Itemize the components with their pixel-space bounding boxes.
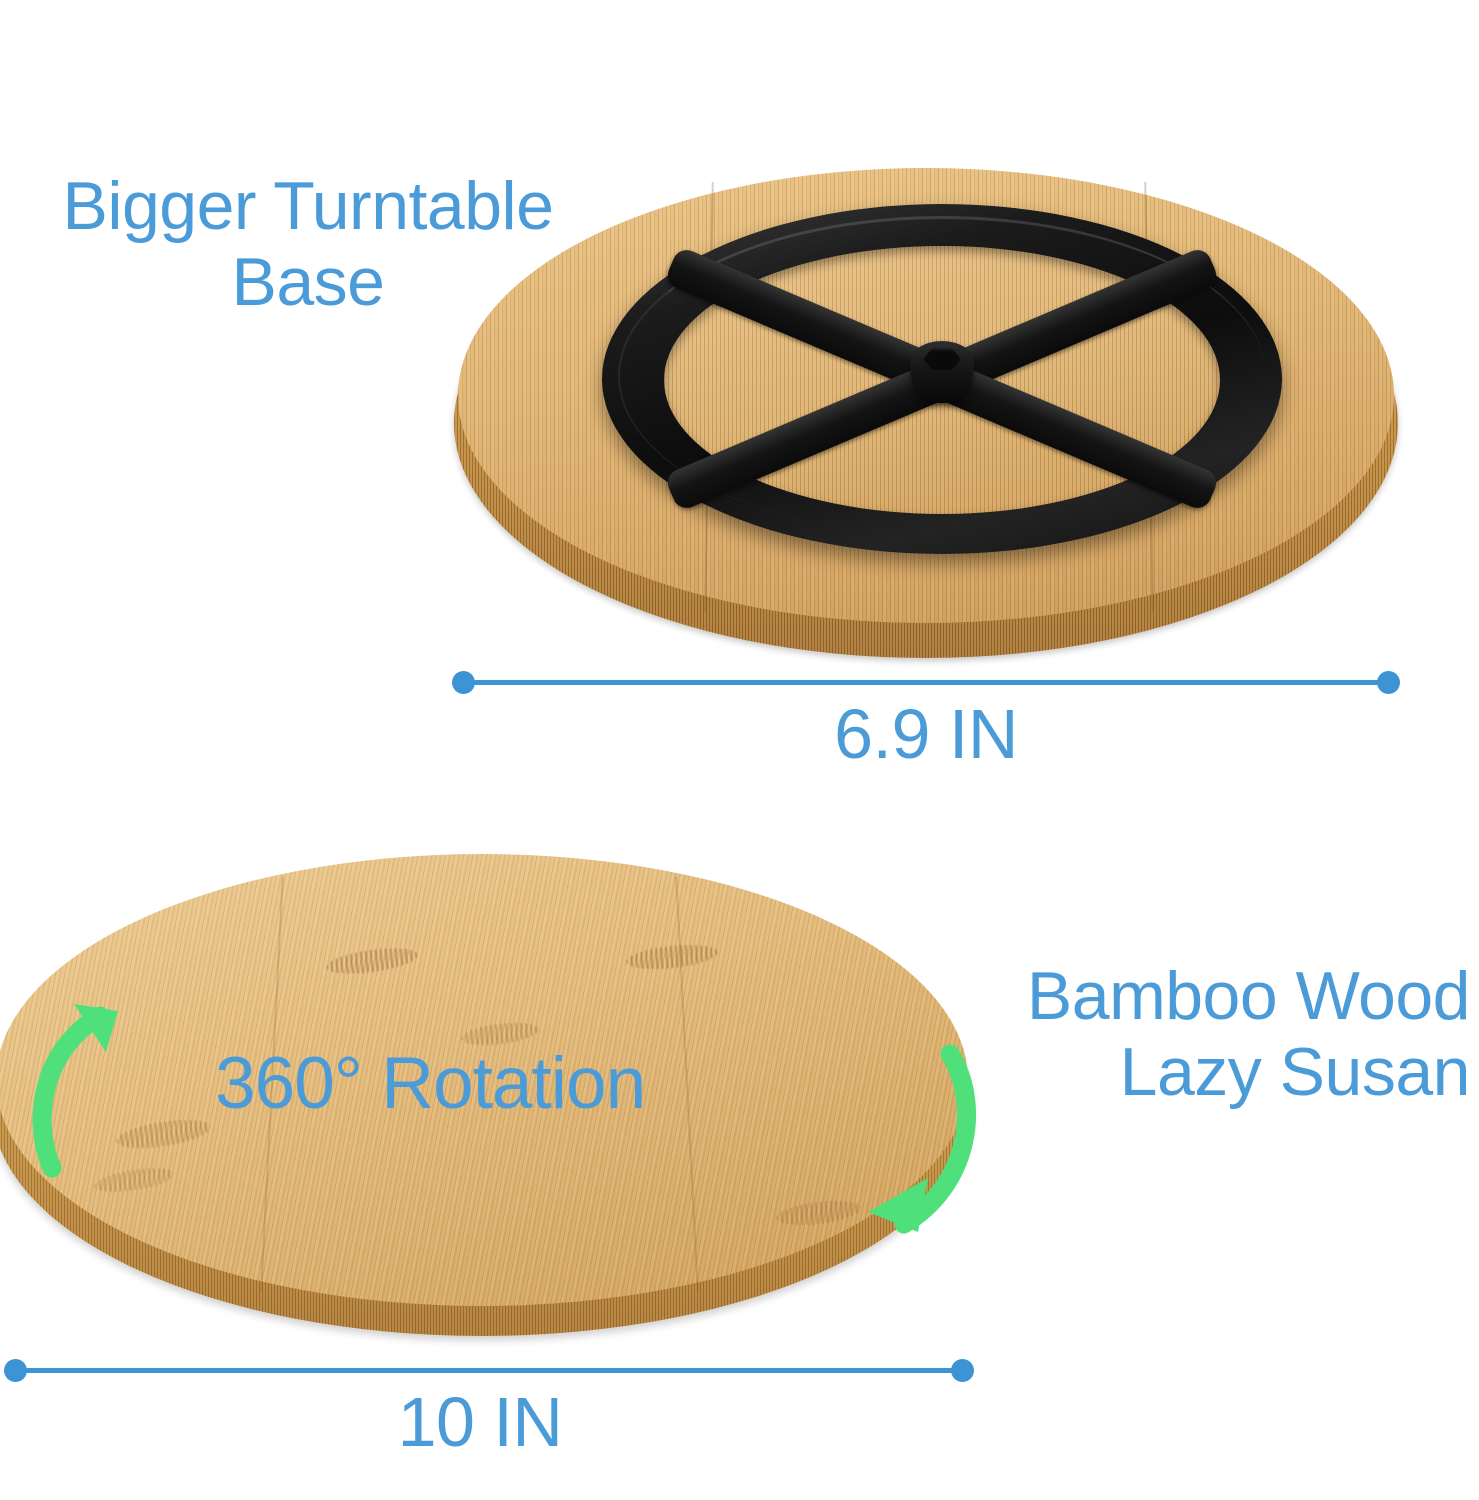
hex-socket-icon: [923, 348, 961, 370]
callout-bigger-turntable-base: Bigger Turntable Base: [8, 168, 608, 320]
product-infographic: Bigger Turntable Base Bamboo Wood Lazy S…: [0, 0, 1479, 1500]
bamboo-node-mark: [625, 941, 719, 972]
dimension-line-turntable-base: [452, 670, 1400, 694]
dimension-line-bar: [463, 680, 1389, 685]
bamboo-plank-seam: [675, 876, 699, 1291]
bamboo-node-mark: [325, 944, 419, 979]
rotation-arrow-left-icon: [22, 978, 212, 1188]
black-turntable-bearing: [602, 204, 1282, 554]
dimension-endpoint-dot-right: [951, 1359, 974, 1382]
rotation-arrow-right-icon: [800, 1036, 1000, 1251]
dimension-label-lazy-susan: 10 IN: [180, 1382, 780, 1462]
dimension-line-bar: [15, 1368, 963, 1373]
dimension-line-lazy-susan: [4, 1358, 974, 1382]
dimension-endpoint-dot-right: [1377, 671, 1400, 694]
dimension-label-turntable-base: 6.9 IN: [626, 694, 1226, 774]
callout-360-rotation: 360° Rotation: [215, 1043, 645, 1125]
